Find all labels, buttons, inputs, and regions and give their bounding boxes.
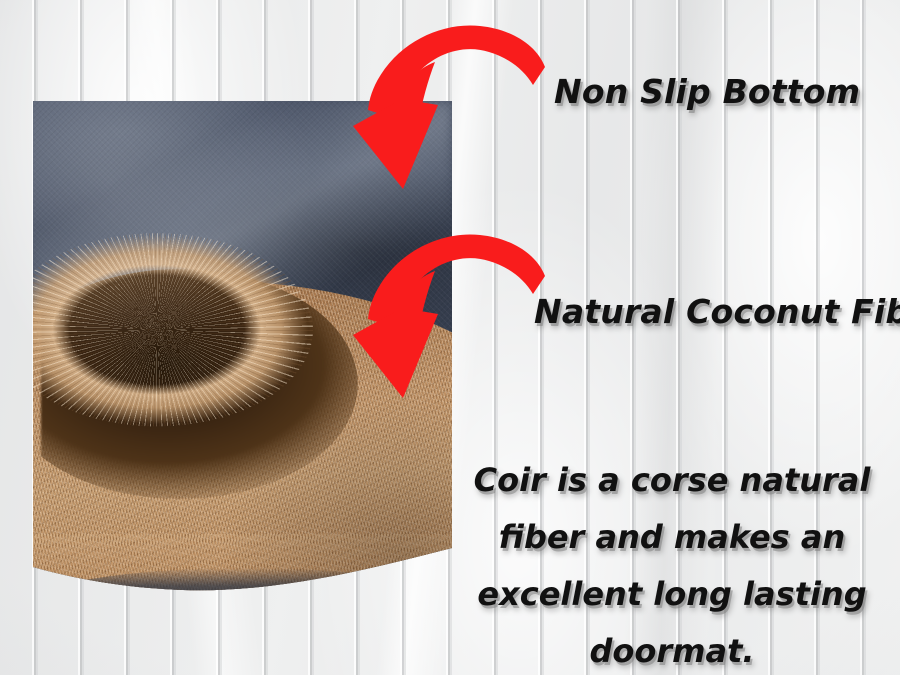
arrow-head-2 bbox=[353, 308, 438, 398]
product-infographic-poster: Non Slip Bottom Natural Coconut Fibers C… bbox=[0, 0, 900, 675]
callout-arrow-non-slip-bottom bbox=[340, 24, 570, 199]
arrow-head-1 bbox=[353, 99, 438, 189]
callout-label-natural-coconut-fibers: Natural Coconut Fibers bbox=[534, 292, 900, 331]
callout-label-non-slip-bottom: Non Slip Bottom bbox=[554, 72, 860, 111]
product-description-blurb: Coir is a corse natural fiber and makes … bbox=[452, 452, 892, 675]
